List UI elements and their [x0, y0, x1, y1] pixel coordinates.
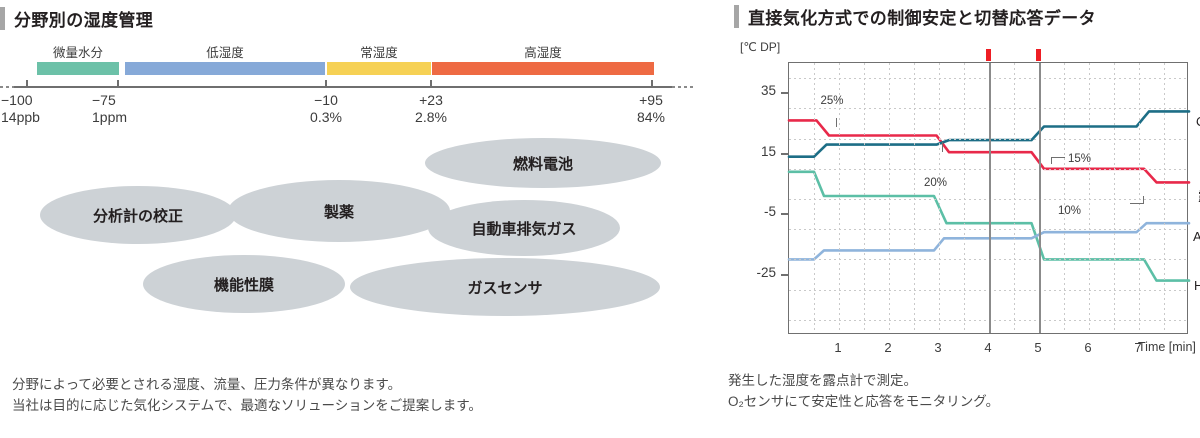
- chart-plot-area: [788, 62, 1188, 334]
- bubble-functional-membrane[interactable]: 機能性膜: [143, 255, 345, 313]
- bubble-label-1: 製薬: [324, 201, 354, 222]
- chart-gridline-h: [789, 78, 1187, 79]
- bubble-analyzer-calibration[interactable]: 分析計の校正: [40, 186, 236, 244]
- title-accent-bar: [0, 7, 5, 30]
- chart-unit-label: [℃ DP]: [740, 40, 780, 54]
- scale-tick-4: [651, 80, 653, 87]
- chart-gridline-h: [789, 320, 1187, 321]
- chart-xtick-label-1: 2: [876, 340, 900, 355]
- scale-segment-label-1: 低湿度: [125, 42, 325, 61]
- chart-xaxis-title: Time [min]: [1138, 340, 1196, 354]
- scale-tick-2: [325, 80, 327, 87]
- bubble-gas-sensor[interactable]: ガスセンサ: [350, 258, 660, 316]
- chart-gridline-h: [789, 290, 1187, 291]
- bubble-label-4: 機能性膜: [214, 274, 274, 295]
- chart-gridline-v: [889, 63, 890, 333]
- chart-gridline-v: [1089, 63, 1090, 333]
- scale-tick-0: [26, 80, 28, 87]
- scale-tick-value-4: +95: [613, 92, 689, 109]
- chart-ytick-label-3: -25: [736, 265, 776, 280]
- chart-xtick-label-4: 5: [1026, 340, 1050, 355]
- scale-tick-sub-3: 2.8%: [393, 109, 469, 126]
- scale-segment-label-3: 高湿度: [432, 42, 654, 61]
- scale-segment-label-0: 微量水分: [37, 42, 119, 61]
- chart-annotation-10pct: 10%: [1058, 205, 1081, 217]
- bubble-pharmaceutical[interactable]: 製薬: [228, 180, 450, 242]
- chart-annotation-leader: [1130, 203, 1143, 204]
- chart-gridline-v: [964, 63, 965, 333]
- scale-tick-value-0: −100: [1, 92, 81, 109]
- scale-tick-sub-0: 14ppb: [1, 109, 81, 126]
- humidity-control-panel: 分野別の湿度管理 微量水分 低湿度 常湿度 高湿度 −100 14ppb −75…: [0, 0, 720, 438]
- chart-xtick-label-3: 4: [976, 340, 1000, 355]
- chart-ytick-label-2: -5: [736, 204, 776, 219]
- scale-tick-value-3: +23: [393, 92, 469, 109]
- left-caption-line-1: 分野によって必要とされる湿度、流量、圧力条件が異なります。: [12, 374, 401, 395]
- chart-marker-line-1: [1039, 63, 1041, 333]
- chart-annotation-leader: [1051, 157, 1065, 158]
- chart-gridline-v: [1164, 63, 1165, 333]
- scale-tick-value-2: −10: [288, 92, 364, 109]
- chart-gridline-v: [1064, 63, 1065, 333]
- title-accent-bar-right: [734, 5, 739, 28]
- scale-segment-bar-low: [125, 62, 325, 75]
- chart-series-label: H₂O 2ccm: [1194, 278, 1200, 293]
- bubble-fuel-cell[interactable]: 燃料電池: [425, 138, 661, 188]
- bubble-automotive-exhaust[interactable]: 自動車排気ガス: [428, 200, 620, 256]
- chart-gridline-v: [939, 63, 940, 333]
- scale-tick-label-2: −10 0.3%: [288, 92, 364, 126]
- chart-xtick-label-0: 1: [826, 340, 850, 355]
- scale-axis-line: [14, 86, 674, 88]
- chart-gridline-h: [789, 259, 1187, 260]
- left-caption-line-2: 当社は目的に応じた気化システムで、最適なソリューションをご提案します。: [12, 395, 482, 416]
- chart-annotation-leader: [836, 118, 837, 127]
- scale-segment-label-2: 常湿度: [327, 42, 431, 61]
- scale-segment-bar-trace: [37, 62, 119, 75]
- chart-ytick-2: [781, 213, 788, 215]
- humidity-scale: 微量水分 低湿度 常湿度 高湿度 −100 14ppb −75 1ppm −10…: [0, 42, 700, 127]
- scale-tick-value-1: −75: [92, 92, 172, 109]
- chart-xtick-label-5: 6: [1076, 340, 1100, 355]
- chart-ytick-label-1: 15: [736, 144, 776, 159]
- bubble-label-2: 燃料電池: [513, 153, 573, 174]
- scale-tick-label-4: +95 84%: [613, 92, 689, 126]
- chart-gridline-v: [864, 63, 865, 333]
- chart-marker-line-0: [989, 63, 991, 333]
- red-marker-1: [1036, 49, 1041, 61]
- chart-gridline-v: [1014, 63, 1015, 333]
- scale-segment-bar-normal: [327, 62, 431, 75]
- chart-annotation-leader: [1051, 157, 1052, 164]
- scale-segment-bar-high: [432, 62, 654, 75]
- chart-gridline-v: [1139, 63, 1140, 333]
- chart-gridline-h: [789, 169, 1187, 170]
- chart-annotation-leader: [1143, 196, 1144, 204]
- left-section-title: 分野別の湿度管理: [0, 6, 153, 31]
- scale-tick-label-3: +23 2.8%: [393, 92, 469, 126]
- chart-xtick-label-2: 3: [926, 340, 950, 355]
- axis-dash-right: [672, 86, 696, 88]
- chart-annotation-15pct: 15%: [1068, 153, 1091, 165]
- scale-tick-1: [117, 80, 119, 87]
- right-caption-line-1: 発生した湿度を露点計で測定。: [728, 370, 917, 391]
- chart-ytick-0: [781, 92, 788, 94]
- right-caption-line-2: O₂センサにて安定性と応答をモニタリング。: [728, 391, 999, 412]
- scale-tick-3: [430, 80, 432, 87]
- scale-tick-sub-4: 84%: [613, 109, 689, 126]
- chart-series-label: Air 10 LM: [1193, 229, 1200, 244]
- chart-gridline-v: [1114, 63, 1115, 333]
- bubble-label-0: 分析計の校正: [93, 205, 183, 226]
- bubble-label-3: 自動車排気ガス: [471, 218, 576, 239]
- chart-ytick-label-0: 35: [736, 83, 776, 98]
- chart-ytick-1: [781, 153, 788, 155]
- response-data-panel: 直接気化方式での制御安定と切替応答データ [℃ DP] 発生した湿度を露点計で測…: [720, 0, 1200, 438]
- chart-annotation-25pct: 25%: [821, 95, 844, 107]
- right-section-title: 直接気化方式での制御安定と切替応答データ: [734, 4, 1096, 29]
- chart-gridline-h: [789, 139, 1187, 140]
- scale-tick-label-0: −100 14ppb: [0, 92, 81, 126]
- chart-gridline-v: [814, 63, 815, 333]
- scale-tick-label-1: −75 1ppm: [78, 92, 172, 126]
- chart-gridline-h: [789, 199, 1187, 200]
- chart-gridline-v: [914, 63, 915, 333]
- chart-annotation-leader: [942, 142, 943, 152]
- chart-gridline-h: [789, 229, 1187, 230]
- red-marker-0: [986, 49, 991, 61]
- left-title-text: 分野別の湿度管理: [14, 6, 153, 31]
- bubble-label-5: ガスセンサ: [467, 277, 542, 298]
- chart-gridline-h: [789, 108, 1187, 109]
- scale-tick-sub-2: 0.3%: [288, 109, 364, 126]
- scale-tick-sub-1: 1ppm: [92, 109, 172, 126]
- chart-ytick-3: [781, 274, 788, 276]
- chart-annotation-20pct: 20%: [924, 177, 947, 189]
- application-bubble-cluster: 燃料電池 分析計の校正 製薬 自動車排気ガス 機能性膜 ガスセンサ: [0, 130, 700, 325]
- right-title-text: 直接気化方式での制御安定と切替応答データ: [748, 4, 1096, 29]
- chart-series-label: O₂ sensor: [1196, 114, 1200, 129]
